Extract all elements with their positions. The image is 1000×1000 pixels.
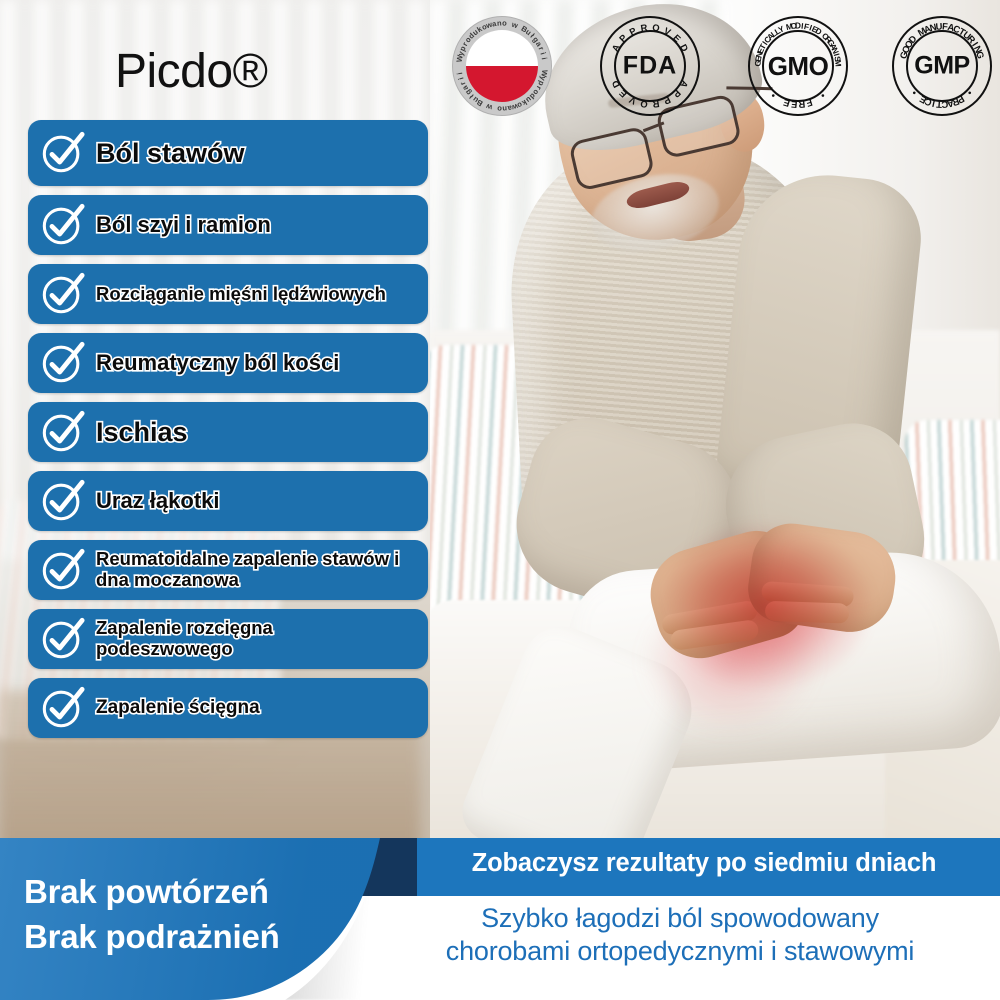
banner-claim-line-1: Brak powtórzeń [24,870,354,915]
benefit-pill-label: Ból stawów [96,138,245,168]
gmo-seal: GENETICALLY MODIFIED ORGANISM • FREE • G… [748,16,848,116]
fda-inner-ring [614,30,686,102]
badge-gmp: GOOD MANUFACTURING • PRACTICE • GMP [892,16,992,116]
benefit-pill-label: Zapalenie rozcięgna podeszwowego [96,618,414,659]
benefit-pill-label: Zapalenie ścięgna [96,697,260,718]
benefit-pill-label: Rozciąganie mięśni lędźwiowych [96,284,386,305]
benefit-pill[interactable]: Zapalenie ścięgna [28,678,428,738]
benefit-pill[interactable]: Reumatoidalne zapalenie stawów i dna moc… [28,540,428,600]
benefit-pill[interactable]: Zapalenie rozcięgna podeszwowego [28,609,428,669]
benefit-pill-label: Ból szyi i ramion [96,213,271,238]
check-circle-icon [40,547,86,593]
brand-logo: Picdo® [115,44,267,99]
benefits-list: Ból stawówBól szyi i ramionRozciąganie m… [28,120,428,747]
benefit-pill[interactable]: Ból szyi i ramion [28,195,428,255]
badge-made-in-bulgaria: Wyprodukowano w BułgariiWyprodukowano w … [452,16,552,116]
benefit-pill-label: Reumatyczny ból kości [96,351,339,376]
fda-seal: APPROVED APPROVED FDA [600,16,700,116]
bulgaria-ring-text: Wyprodukowano w BułgariiWyprodukowano w … [452,16,552,116]
benefit-pill-label: Ischias [96,417,188,447]
product-hero-photo [430,0,1000,860]
bottom-banner: Brak powtórzeń Brak podrażnień Zobaczysz… [0,838,1000,1000]
banner-subtext: Szybko łagodzi ból spowodowany chorobami… [360,902,1000,968]
benefit-pill[interactable]: Ischias [28,402,428,462]
banner-claim-line-2: Brak podrażnień [24,915,354,960]
check-circle-icon [40,616,86,662]
check-circle-icon [40,130,86,176]
banner-sub-line-1: Szybko łagodzi ból spowodowany [360,902,1000,935]
knee-pain-indicator [645,520,895,735]
check-circle-icon [40,271,86,317]
benefit-pill[interactable]: Rozciąganie mięśni lędźwiowych [28,264,428,324]
gmo-inner-ring [762,30,834,102]
benefit-pill-label: Uraz łąkotki [96,489,220,514]
certification-badges: Wyprodukowano w BułgariiWyprodukowano w … [452,16,992,124]
benefit-pill[interactable]: Uraz łąkotki [28,471,428,531]
check-circle-icon [40,685,86,731]
badge-gmo-free: GENETICALLY MODIFIED ORGANISM • FREE • G… [748,16,848,116]
check-circle-icon [40,340,86,386]
benefit-pill[interactable]: Reumatyczny ból kości [28,333,428,393]
fda-arc-bottom: APPROVED [602,18,698,114]
check-circle-icon [40,478,86,524]
gmp-seal: GOOD MANUFACTURING • PRACTICE • GMP [892,16,992,116]
check-circle-icon [40,202,86,248]
gmp-arc-bottom: • PRACTICE • [894,18,990,114]
bulgaria-flag-seal: Wyprodukowano w BułgariiWyprodukowano w … [452,16,552,116]
banner-headline: Zobaczysz rezultaty po siedmiu dniach [418,849,990,878]
gmo-core-label: GMO [750,53,846,79]
check-circle-icon [40,409,86,455]
gmo-arc-bottom: • FREE • [750,18,846,114]
advertisement-canvas: Picdo® Wyprodukowano w BułgariiWyproduko… [0,0,1000,1000]
banner-sub-line-2: chorobami ortopedycznymi i stawowymi [360,935,1000,968]
gmp-core-label: GMP [894,54,990,79]
banner-left-claims: Brak powtórzeń Brak podrażnień [24,870,354,959]
badge-fda-approved: APPROVED APPROVED FDA [600,16,700,116]
gmp-inner-ring [906,30,978,102]
fda-core-label: FDA [602,54,698,79]
benefit-pill-label: Reumatoidalne zapalenie stawów i dna moc… [96,549,414,590]
benefit-pill[interactable]: Ból stawów [28,120,428,186]
